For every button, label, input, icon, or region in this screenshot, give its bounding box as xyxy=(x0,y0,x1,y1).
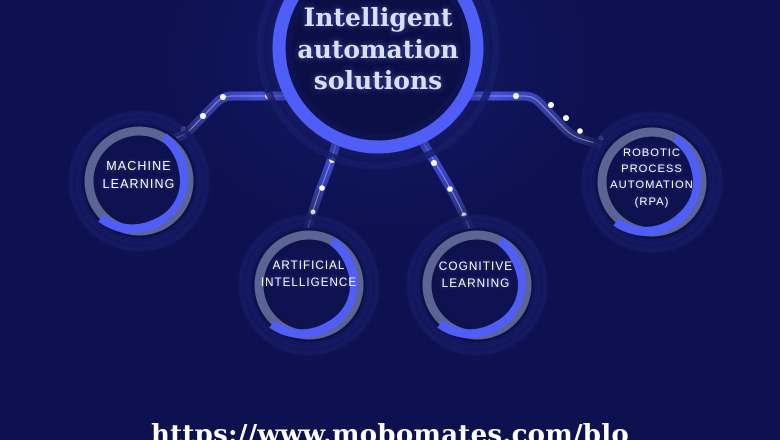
connector-dot xyxy=(548,102,554,108)
node-inner-fill xyxy=(268,244,350,326)
node-machine-learning[interactable] xyxy=(63,105,215,257)
connector-dot xyxy=(513,93,519,99)
node-cognitive-learning[interactable] xyxy=(401,209,553,361)
node-inner-fill xyxy=(98,140,180,222)
connector-dot xyxy=(577,128,583,134)
diagram-canvas: Intelligent automation solutions MACHINE… xyxy=(0,0,780,440)
site-url-watermark[interactable]: https://www.mobomates.com/blo xyxy=(0,420,780,440)
node-inner-fill xyxy=(436,244,518,326)
node-artificial-intelligence[interactable] xyxy=(233,209,385,361)
node-inner-fill xyxy=(611,141,693,223)
connector-dot xyxy=(447,186,453,192)
center-node-title: Intelligent automation solutions xyxy=(276,2,480,97)
connector-dot xyxy=(200,113,206,119)
connector-dot xyxy=(319,185,325,191)
connector-dot xyxy=(220,94,226,100)
connector-dot xyxy=(563,115,569,121)
node-robotic-process-automation[interactable] xyxy=(576,106,728,258)
